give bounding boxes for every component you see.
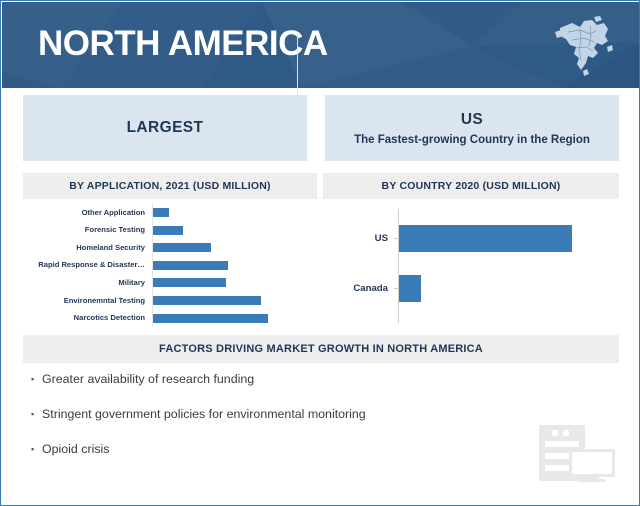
country-bar	[399, 225, 572, 252]
application-bar-row: Other Application	[23, 205, 317, 220]
application-bar	[153, 243, 211, 252]
factor-list-item: ▪Opioid crisis	[31, 441, 551, 458]
country-bar	[399, 275, 421, 302]
factor-list-item-text: Opioid crisis	[42, 441, 109, 458]
bullet-square-icon: ▪	[31, 371, 42, 388]
chart-divider	[297, 33, 298, 155]
factor-list-item-text: Greater availability of research funding	[42, 371, 254, 388]
kpi-panel-fastest-growing: US The Fastest-growing Country in the Re…	[325, 95, 619, 161]
country-axis-tick	[394, 238, 399, 239]
kpi-largest-value: LARGEST	[127, 119, 204, 137]
application-bar-label: Environemntal Testing	[23, 296, 149, 306]
server-monitor-icon	[525, 423, 617, 483]
north-america-map-icon	[550, 14, 616, 78]
country-axis-tick	[394, 288, 399, 289]
application-bar-label: Narcotics Detection	[23, 313, 149, 323]
application-bar-row: Forensic Testing	[23, 223, 317, 238]
factors-list: ▪Greater availability of research fundin…	[31, 371, 551, 476]
application-bar	[153, 208, 169, 217]
application-bar	[153, 296, 261, 305]
application-bar-row: Narcotics Detection	[23, 311, 317, 326]
factor-list-item-text: Stringent government policies for enviro…	[42, 406, 366, 423]
chart-title-by-application: BY APPLICATION, 2021 (USD MILLION)	[23, 173, 317, 199]
bullet-square-icon: ▪	[31, 406, 42, 423]
page-title: NORTH AMERICA	[38, 22, 328, 66]
country-bar-row: US	[323, 225, 619, 252]
infographic-slide: NORTH AMERICA	[0, 0, 640, 506]
country-bar-label: US	[323, 233, 395, 244]
application-bars: Other ApplicationForensic TestingHomelan…	[23, 201, 317, 331]
application-bar	[153, 226, 183, 235]
factor-list-item: ▪Greater availability of research fundin…	[31, 371, 551, 388]
kpi-country-subtitle: The Fastest-growing Country in the Regio…	[354, 134, 590, 146]
application-bar-label: Forensic Testing	[23, 225, 149, 235]
chart-band: BY APPLICATION, 2021 (USD MILLION) BY CO…	[23, 173, 619, 331]
factors-title: FACTORS DRIVING MARKET GROWTH IN NORTH A…	[23, 335, 619, 363]
application-bar-row: Environemntal Testing	[23, 293, 317, 308]
application-bar-label: Military	[23, 278, 149, 288]
country-bars: USCanada	[323, 201, 619, 331]
slide-header: NORTH AMERICA	[2, 2, 640, 88]
bullet-square-icon: ▪	[31, 441, 42, 458]
application-bar-row: Rapid Response & Disaster…	[23, 258, 317, 273]
application-bar-row: Homeland Security	[23, 240, 317, 255]
kpi-panel-row: LARGEST US The Fastest-growing Country i…	[1, 89, 640, 167]
bar-chart-by-application: Other ApplicationForensic TestingHomelan…	[23, 201, 317, 331]
chart-title-by-country: BY COUNTRY 2020 (USD MILLION)	[323, 173, 619, 199]
factor-list-item: ▪ Stringent government policies for envi…	[31, 406, 551, 423]
application-bar	[153, 314, 268, 323]
bar-chart-by-country: USCanada	[323, 201, 619, 331]
application-bar	[153, 278, 226, 287]
kpi-country-value: US	[461, 111, 483, 129]
application-bar-row: Military	[23, 275, 317, 290]
application-bar-label: Other Application	[23, 208, 149, 218]
application-bar	[153, 261, 228, 270]
country-bar-row: Canada	[323, 275, 619, 302]
application-bar-label: Homeland Security	[23, 243, 149, 253]
country-bar-label: Canada	[323, 283, 395, 294]
kpi-panel-largest: LARGEST	[23, 95, 307, 161]
application-bar-label: Rapid Response & Disaster…	[23, 260, 149, 270]
